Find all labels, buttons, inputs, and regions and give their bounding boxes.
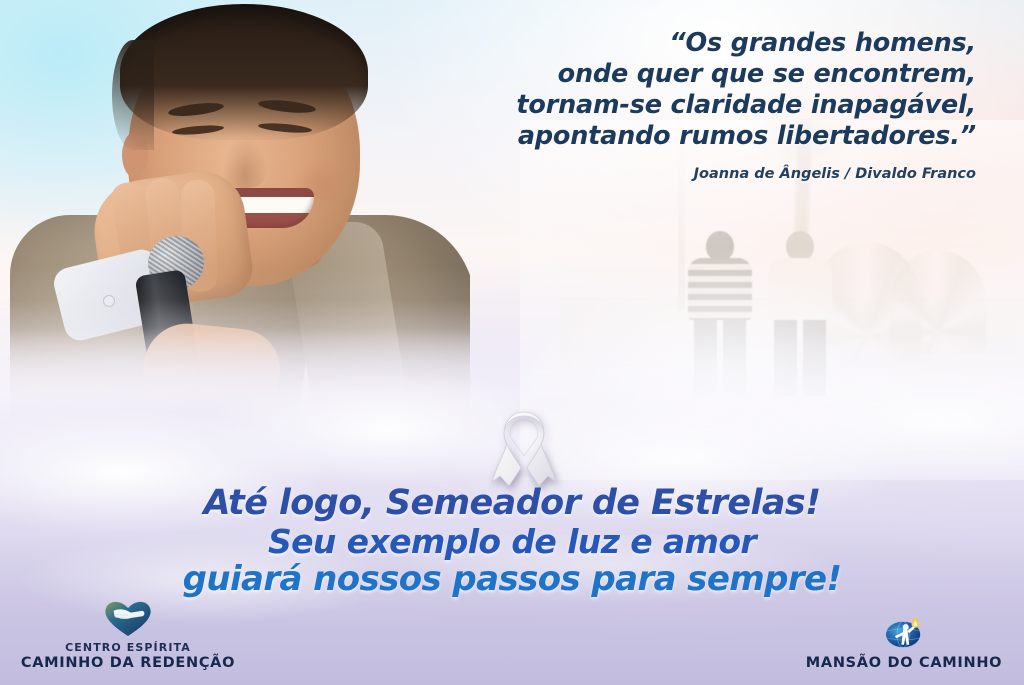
quote-block: “Os grandes homens, onde quer que se enc… [436,28,976,182]
headline-line-2: Seu exemplo de luz e amor [0,524,1024,559]
mourning-ribbon-icon [487,410,561,488]
headline-line-3: guiará nossos passos para sempre! [0,562,1024,597]
logo-mansao-do-caminho[interactable]: MANSÃO DO CAMINHO [794,608,1014,671]
logo-centro-espirita[interactable]: CENTRO ESPÍRITA CAMINHO DA REDENÇÃO [18,594,238,671]
heart-hands-icon [18,594,238,638]
quote-line-1: “Os grandes homens, [436,28,976,59]
logo-left-line-1: CENTRO ESPÍRITA [18,641,238,654]
headline-block: Até logo, Semeador de Estrelas! Seu exem… [0,486,1024,597]
quote-line-3: tornam-se claridade inapagável, [436,90,976,121]
portrait-hair [120,4,368,140]
portrait-hair-side [112,40,154,150]
headline-line-1: Até logo, Semeador de Estrelas! [0,486,1024,521]
quote-line-4: apontando rumos libertadores.” [436,121,976,152]
logo-right-line-2: MANSÃO DO CAMINHO [794,655,1014,671]
portrait-nose [222,136,268,188]
memorial-poster: “Os grandes homens, onde quer que se enc… [0,0,1024,685]
logo-left-line-2: CAMINHO DA REDENÇÃO [18,655,238,671]
quote-line-2: onde quer que se encontrem, [436,59,976,90]
quote-attribution: Joanna de Ângelis / Divaldo Franco [436,166,976,182]
globe-figure-flame-icon [794,608,1014,652]
